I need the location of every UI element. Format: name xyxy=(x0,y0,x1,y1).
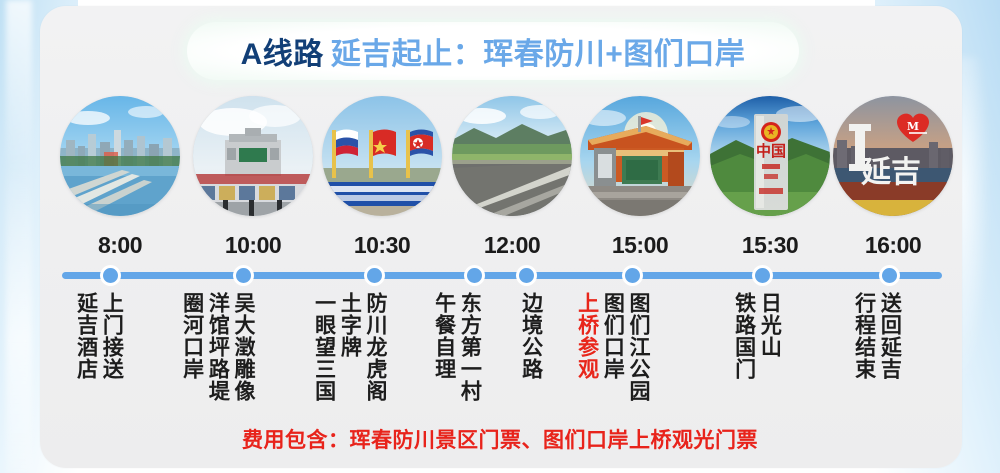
yanji-city-skyline-photo xyxy=(60,96,180,216)
stop-labels-6: 图们江公园 图们口岸 上桥参观 xyxy=(575,292,649,402)
stop-label: 吴大澂雕像 xyxy=(231,292,254,402)
stop-label-highlight: 上桥参观 xyxy=(575,292,598,402)
route-code: A线路 xyxy=(241,38,324,71)
stop-column-3: 10:30 xyxy=(322,96,442,259)
stop-column-4: 12:00 xyxy=(452,96,572,259)
i-love-yanji-landmark-photo: M 延吉 xyxy=(833,96,953,216)
svg-text:中国: 中国 xyxy=(756,142,786,160)
stop-label: 图们口岸 xyxy=(601,292,624,402)
stop-label: 行程结束 xyxy=(852,292,875,380)
timeline-dot-4[interactable] xyxy=(467,268,482,283)
route-name: 延吉起止：珲春防川+图们口岸 xyxy=(331,38,746,71)
stop-label: 日光山 xyxy=(758,292,781,380)
stop-labels-2: 吴大澂雕像 洋馆坪路堤 圈河口岸 xyxy=(180,292,254,402)
stop-label: 一眼望三国 xyxy=(312,292,335,402)
stop-labels-3: 防川龙虎阁 土字牌 一眼望三国 xyxy=(312,292,386,402)
stop-label: 延吉酒店 xyxy=(74,292,97,380)
stop-label: 防川龙虎阁 xyxy=(363,292,386,402)
stop-label: 圈河口岸 xyxy=(180,292,203,402)
timeline-dot-7[interactable] xyxy=(755,268,770,283)
itinerary-timeline xyxy=(62,268,942,280)
three-country-flags-photo xyxy=(322,96,442,216)
timeline-dot-5[interactable] xyxy=(519,268,534,283)
stop-label: 送回延吉 xyxy=(878,292,901,380)
stop-label: 图们江公园 xyxy=(626,292,649,402)
quanhe-port-building-photo xyxy=(193,96,313,216)
fee-inclusion-note: 费用包含：珲春防川景区门票、图们口岸上桥观光门票 xyxy=(0,424,1000,454)
stop-labels-1: 上门接送 延吉酒店 xyxy=(74,292,122,380)
stop-label: 洋馆坪路堤 xyxy=(206,292,229,402)
stop-label: 铁路国门 xyxy=(732,292,755,380)
stop-time-5: 15:00 xyxy=(612,232,668,259)
china-boundary-marker-photo: 中国 xyxy=(710,96,830,216)
stop-labels-7: 日光山 铁路国门 xyxy=(732,292,780,380)
stop-column-5: 15:00 xyxy=(580,96,700,259)
stop-labels-5: 边境公路 xyxy=(519,292,542,380)
stop-column-2: 10:00 xyxy=(193,96,313,259)
stop-label: 东方第一村 xyxy=(458,292,481,402)
svg-text:M: M xyxy=(907,120,919,133)
stop-labels-8: 送回延吉 行程结束 xyxy=(852,292,900,380)
stop-time-2: 10:00 xyxy=(225,232,281,259)
timeline-dot-3[interactable] xyxy=(367,268,382,283)
stop-column-6: 中国 15:30 xyxy=(710,96,830,259)
stop-label: 上门接送 xyxy=(100,292,123,380)
stop-label-row: 上门接送 延吉酒店 吴大澂雕像 洋馆坪路堤 圈河口岸 防川龙虎阁 土字牌 一眼望… xyxy=(62,292,942,414)
itinerary-poster: A线路延吉起止：珲春防川+图们口岸 xyxy=(0,0,1000,473)
border-highway-photo xyxy=(452,96,572,216)
stop-label: 午餐自理 xyxy=(432,292,455,402)
stop-labels-4: 东方第一村 午餐自理 xyxy=(432,292,480,402)
stop-time-6: 15:30 xyxy=(742,232,798,259)
stop-time-7: 16:00 xyxy=(865,232,921,259)
tumen-port-gate-photo xyxy=(580,96,700,216)
stop-time-3: 10:30 xyxy=(354,232,410,259)
stop-time-4: 12:00 xyxy=(484,232,540,259)
route-title: A线路延吉起止：珲春防川+图们口岸 xyxy=(241,29,746,73)
stop-label: 土字牌 xyxy=(338,292,361,402)
stop-column-1: 8:00 xyxy=(60,96,180,259)
stop-time-1: 8:00 xyxy=(98,232,142,259)
stop-column-7: M 延吉 16:00 xyxy=(833,96,953,259)
svg-text:延吉: 延吉 xyxy=(860,155,921,190)
timeline-line xyxy=(62,272,942,279)
route-title-pill: A线路延吉起止：珲春防川+图们口岸 xyxy=(187,22,799,80)
stop-label: 边境公路 xyxy=(519,292,542,380)
